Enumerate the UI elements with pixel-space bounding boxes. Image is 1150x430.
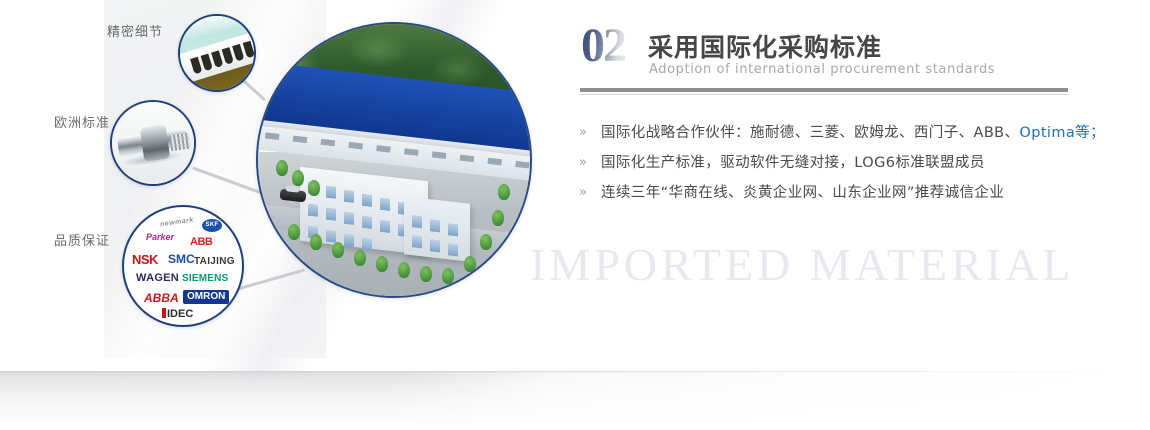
logo-siemens: SIEMENS xyxy=(182,274,228,284)
screw-nut xyxy=(140,124,170,161)
logo-abba: ABBA xyxy=(144,292,179,304)
content-column: 02 采用国际化采购标准 Adoption of international p… xyxy=(575,0,1150,430)
logo-idec-label: IDEC xyxy=(167,308,193,320)
brand-logos-photo: newmark SKF Parker ABB NSK SMC TAIJING W… xyxy=(122,205,244,327)
bullet-marker-icon: » xyxy=(579,148,587,178)
factory-tree xyxy=(376,256,388,272)
title-divider xyxy=(580,88,1068,92)
section-title: 采用国际化采购标准 xyxy=(648,28,882,64)
logo-parker: Parker xyxy=(146,233,174,242)
watermark-text: IMPORTED MATERIAL xyxy=(530,238,1074,291)
title-divider-thin xyxy=(580,94,1068,95)
factory-aerial-photo xyxy=(256,22,532,298)
factory-tree xyxy=(354,250,366,266)
factory-tree xyxy=(464,256,476,272)
bullet-marker-icon: » xyxy=(579,118,587,148)
screw-thread xyxy=(169,133,191,152)
factory-tree xyxy=(398,262,410,278)
logo-nsk: NSK xyxy=(132,253,158,266)
list-item: » 国际化生产标准，驱动软件无缝对接，LOG6标准联盟成员 xyxy=(579,148,1139,178)
list-item: » 连续三年“华商在线、炎黄企业网、山东企业网”推荐诚信企业 xyxy=(579,178,1139,208)
logo-idec: IDEC xyxy=(162,308,193,320)
factory-tree xyxy=(332,242,344,258)
label-european-standard: 欧洲标准 xyxy=(54,112,110,131)
bullet-marker-icon: » xyxy=(579,178,587,208)
logo-newmark: newmark xyxy=(160,217,195,229)
logo-smc: SMC xyxy=(168,253,195,265)
logo-omron: OMRON xyxy=(183,290,229,304)
feature-list: » 国际化战略合作伙伴：施耐德、三菱、欧姆龙、西门子、ABB、Optima等； … xyxy=(579,118,1139,208)
label-precision-detail: 精密细节 xyxy=(107,21,163,40)
factory-tree xyxy=(492,210,504,226)
section-subtitle: Adoption of international procurement st… xyxy=(649,62,995,77)
factory-tree xyxy=(308,180,320,196)
factory-tree xyxy=(310,234,322,250)
factory-tree xyxy=(276,160,288,176)
list-item-text-highlight: Optima等； xyxy=(1019,125,1105,141)
logo-taijing: TAIJING xyxy=(194,257,235,267)
list-item-text: 国际化战略合作伙伴：施耐德、三菱、欧姆龙、西门子、ABB、Optima等； xyxy=(601,118,1105,148)
list-item-text: 连续三年“华商在线、炎黄企业网、山东企业网”推荐诚信企业 xyxy=(601,178,1004,208)
ground-reflection xyxy=(0,372,1150,430)
section-number: 02 xyxy=(581,22,625,70)
list-item-text: 国际化生产标准，驱动软件无缝对接，LOG6标准联盟成员 xyxy=(601,148,985,178)
factory-tree xyxy=(420,266,432,282)
label-quality-assurance: 品质保证 xyxy=(54,230,110,249)
list-item: » 国际化战略合作伙伴：施耐德、三菱、欧姆龙、西门子、ABB、Optima等； xyxy=(579,118,1139,148)
logo-abb: ABB xyxy=(190,237,212,248)
logo-wagen: WAGEN xyxy=(136,273,179,284)
factory-tree xyxy=(480,234,492,250)
promo-banner: 精密细节 欧洲标准 品质保证 newmark SKF Parker ABB NS… xyxy=(0,0,1150,430)
list-item-text-main: 国际化战略合作伙伴：施耐德、三菱、欧姆龙、西门子、ABB、 xyxy=(601,125,1019,141)
factory-side-wing xyxy=(404,196,470,262)
factory-tree xyxy=(442,268,454,284)
ball-screw-closeup-photo xyxy=(110,100,196,186)
factory-tree xyxy=(292,170,304,186)
logo-skf: SKF xyxy=(202,219,222,232)
factory-tree xyxy=(288,224,300,240)
factory-tree xyxy=(498,184,510,200)
gear-rack-closeup-photo xyxy=(178,14,256,92)
